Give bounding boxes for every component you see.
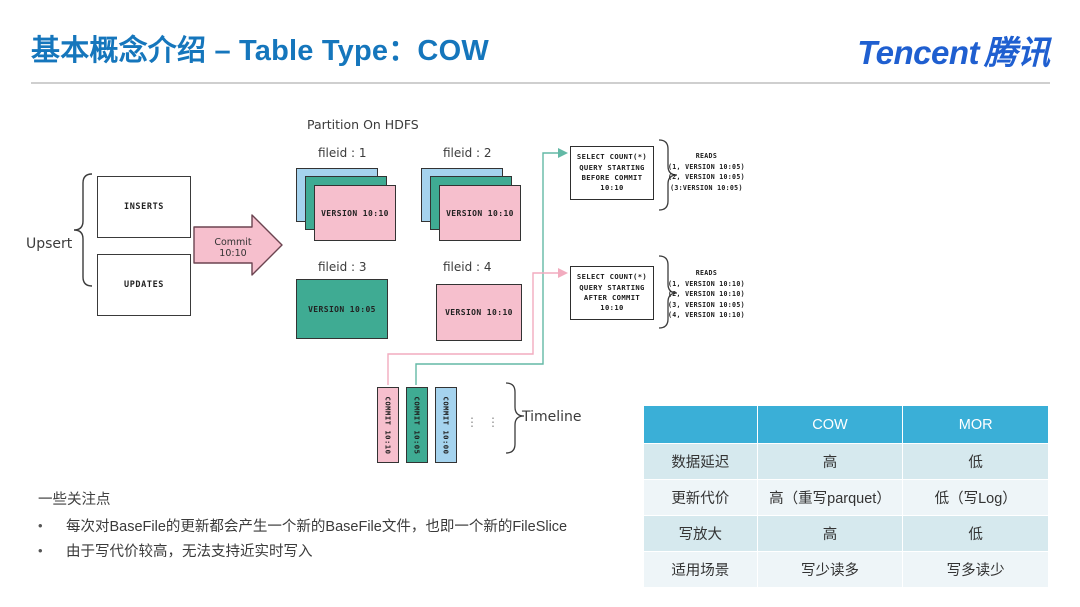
table-row: 更新代价 高（重写parquet） 低（写Log） (644, 480, 1049, 516)
fileid-2-version: VERSION 10:10 (440, 186, 520, 240)
fileid-3-slice-current: VERSION 10:05 (296, 279, 388, 339)
bullet-icon: • (38, 543, 66, 559)
inserts-box: INSERTS (97, 176, 191, 238)
note-text-1: 由于写代价较高，无法支持近实时写入 (66, 543, 313, 561)
cow-mor-comparison-table: COW MOR 数据延迟 高 低 更新代价 高（重写parquet） 低（写Lo… (643, 405, 1049, 588)
reads-before-list: READS (1, VERSION 10:05) (2, VERSION 10:… (668, 151, 745, 193)
logo-text-en: Tencent (857, 34, 979, 72)
header-divider (31, 82, 1050, 84)
commit-arrow-label: Commit 10:10 (202, 237, 264, 259)
row-2-mor: 低 (903, 516, 1049, 552)
fileid-3-label: fileid : 3 (318, 260, 367, 274)
fileid-3-version: VERSION 10:05 (297, 280, 387, 338)
fileid-1-slice-current: VERSION 10:10 (314, 185, 396, 241)
row-0-cow: 高 (757, 444, 903, 480)
fileid-2-label: fileid : 2 (443, 146, 492, 160)
reads-after-list: READS (1, VERSION 10:10) (2, VERSION 10:… (668, 268, 745, 321)
reads-after-item-1: (2, VERSION 10:10) (668, 289, 745, 300)
query-after-box: SELECT COUNT(*) QUERY STARTING AFTER COM… (570, 266, 654, 320)
reads-before-item-2: (3:VERSION 10:05) (668, 183, 745, 194)
notes-block: 一些关注点 • 每次对BaseFile的更新都会产生一个新的BaseFile文件… (38, 488, 618, 568)
note-text-0: 每次对BaseFile的更新都会产生一个新的BaseFile文件，也即一个新的F… (66, 518, 567, 536)
notes-title: 一些关注点 (38, 488, 618, 509)
timeline-commit-2-label: COMMIT 10:00 (442, 396, 451, 454)
query-before-line1: SELECT COUNT(*) (577, 152, 647, 162)
note-item: • 每次对BaseFile的更新都会产生一个新的BaseFile文件，也即一个新… (38, 518, 618, 536)
query-before-line4: 10:10 (600, 183, 623, 193)
upsert-label: Upsert (26, 236, 72, 252)
row-1-cow: 高（重写parquet） (757, 480, 903, 516)
reads-after-item-2: (3, VERSION 10:05) (668, 300, 745, 311)
query-before-line3: BEFORE COMMIT (582, 173, 643, 183)
fileid-1-version: VERSION 10:10 (315, 186, 395, 240)
reads-after-item-3: (4, VERSION 10:10) (668, 310, 745, 321)
commit-arrow: Commit 10:10 (194, 222, 282, 268)
logo-text-cn: 腾讯 (984, 26, 1050, 74)
table-header-blank (644, 406, 758, 444)
fileid-4-slice-current: VERSION 10:10 (436, 284, 522, 341)
query-after-keyword: AFTER (584, 293, 607, 302)
reads-before-item-0: (1, VERSION 10:05) (668, 162, 745, 173)
row-3-cow: 写少读多 (757, 552, 903, 588)
query-after-line2: QUERY STARTING (579, 283, 644, 293)
query-after-line3: AFTER COMMIT (584, 293, 640, 303)
timeline-label: Timeline (522, 409, 582, 425)
fileid-4-version: VERSION 10:10 (437, 285, 521, 340)
timeline-commit-1: COMMIT 10:05 (406, 387, 428, 463)
fileid-2-slice-current: VERSION 10:10 (439, 185, 521, 241)
fileid-4-label: fileid : 4 (443, 260, 492, 274)
query-after-line4: 10:10 (600, 303, 623, 313)
page-title: 基本概念介绍 – Table Type：COW (31, 27, 489, 69)
cow-flow-diagram: Upsert INSERTS UPDATES Commit 10:10 Part… (0, 96, 660, 476)
row-1-label: 更新代价 (644, 480, 758, 516)
query-before-box: SELECT COUNT(*) QUERY STARTING BEFORE CO… (570, 146, 654, 200)
timeline-ellipsis-1: ⋮ (466, 415, 480, 429)
row-2-label: 写放大 (644, 516, 758, 552)
query-after-line3-rest: COMMIT (607, 293, 640, 302)
query-after-line1: SELECT COUNT(*) (577, 272, 647, 282)
row-3-label: 适用场景 (644, 552, 758, 588)
table-header-row: COW MOR (644, 406, 1049, 444)
query-before-keyword: BEFORE (582, 173, 610, 182)
timeline-ellipsis-2: ⋮ (487, 415, 501, 429)
row-2-cow: 高 (757, 516, 903, 552)
row-3-mor: 写多读少 (903, 552, 1049, 588)
note-item: • 由于写代价较高，无法支持近实时写入 (38, 543, 618, 561)
row-1-mor: 低（写Log） (903, 480, 1049, 516)
reads-after-item-0: (1, VERSION 10:10) (668, 279, 745, 290)
fileid-1-label: fileid : 1 (318, 146, 367, 160)
slide: 基本概念介绍 – Table Type：COW Tencent 腾讯 Upser… (0, 0, 1080, 607)
row-0-label: 数据延迟 (644, 444, 758, 480)
row-0-mor: 低 (903, 444, 1049, 480)
table-header-cow: COW (757, 406, 903, 444)
bullet-icon: • (38, 518, 66, 534)
timeline-commit-1-label: COMMIT 10:05 (413, 396, 422, 454)
query-before-line2: QUERY STARTING (579, 163, 644, 173)
table-row: 数据延迟 高 低 (644, 444, 1049, 480)
timeline-commit-0-label: COMMIT 10:10 (384, 396, 393, 454)
query-before-line3-rest: COMMIT (610, 173, 643, 182)
updates-box: UPDATES (97, 254, 191, 316)
partition-label: Partition On HDFS (307, 117, 419, 132)
reads-after-title: READS (668, 268, 745, 279)
table-row: 适用场景 写少读多 写多读少 (644, 552, 1049, 588)
reads-before-title: READS (668, 151, 745, 162)
tencent-logo: Tencent 腾讯 (857, 26, 1050, 74)
table-row: 写放大 高 低 (644, 516, 1049, 552)
table-header-mor: MOR (903, 406, 1049, 444)
timeline-commit-0: COMMIT 10:10 (377, 387, 399, 463)
reads-before-item-1: (2, VERSION 10:05) (668, 172, 745, 183)
timeline-commit-2: COMMIT 10:00 (435, 387, 457, 463)
